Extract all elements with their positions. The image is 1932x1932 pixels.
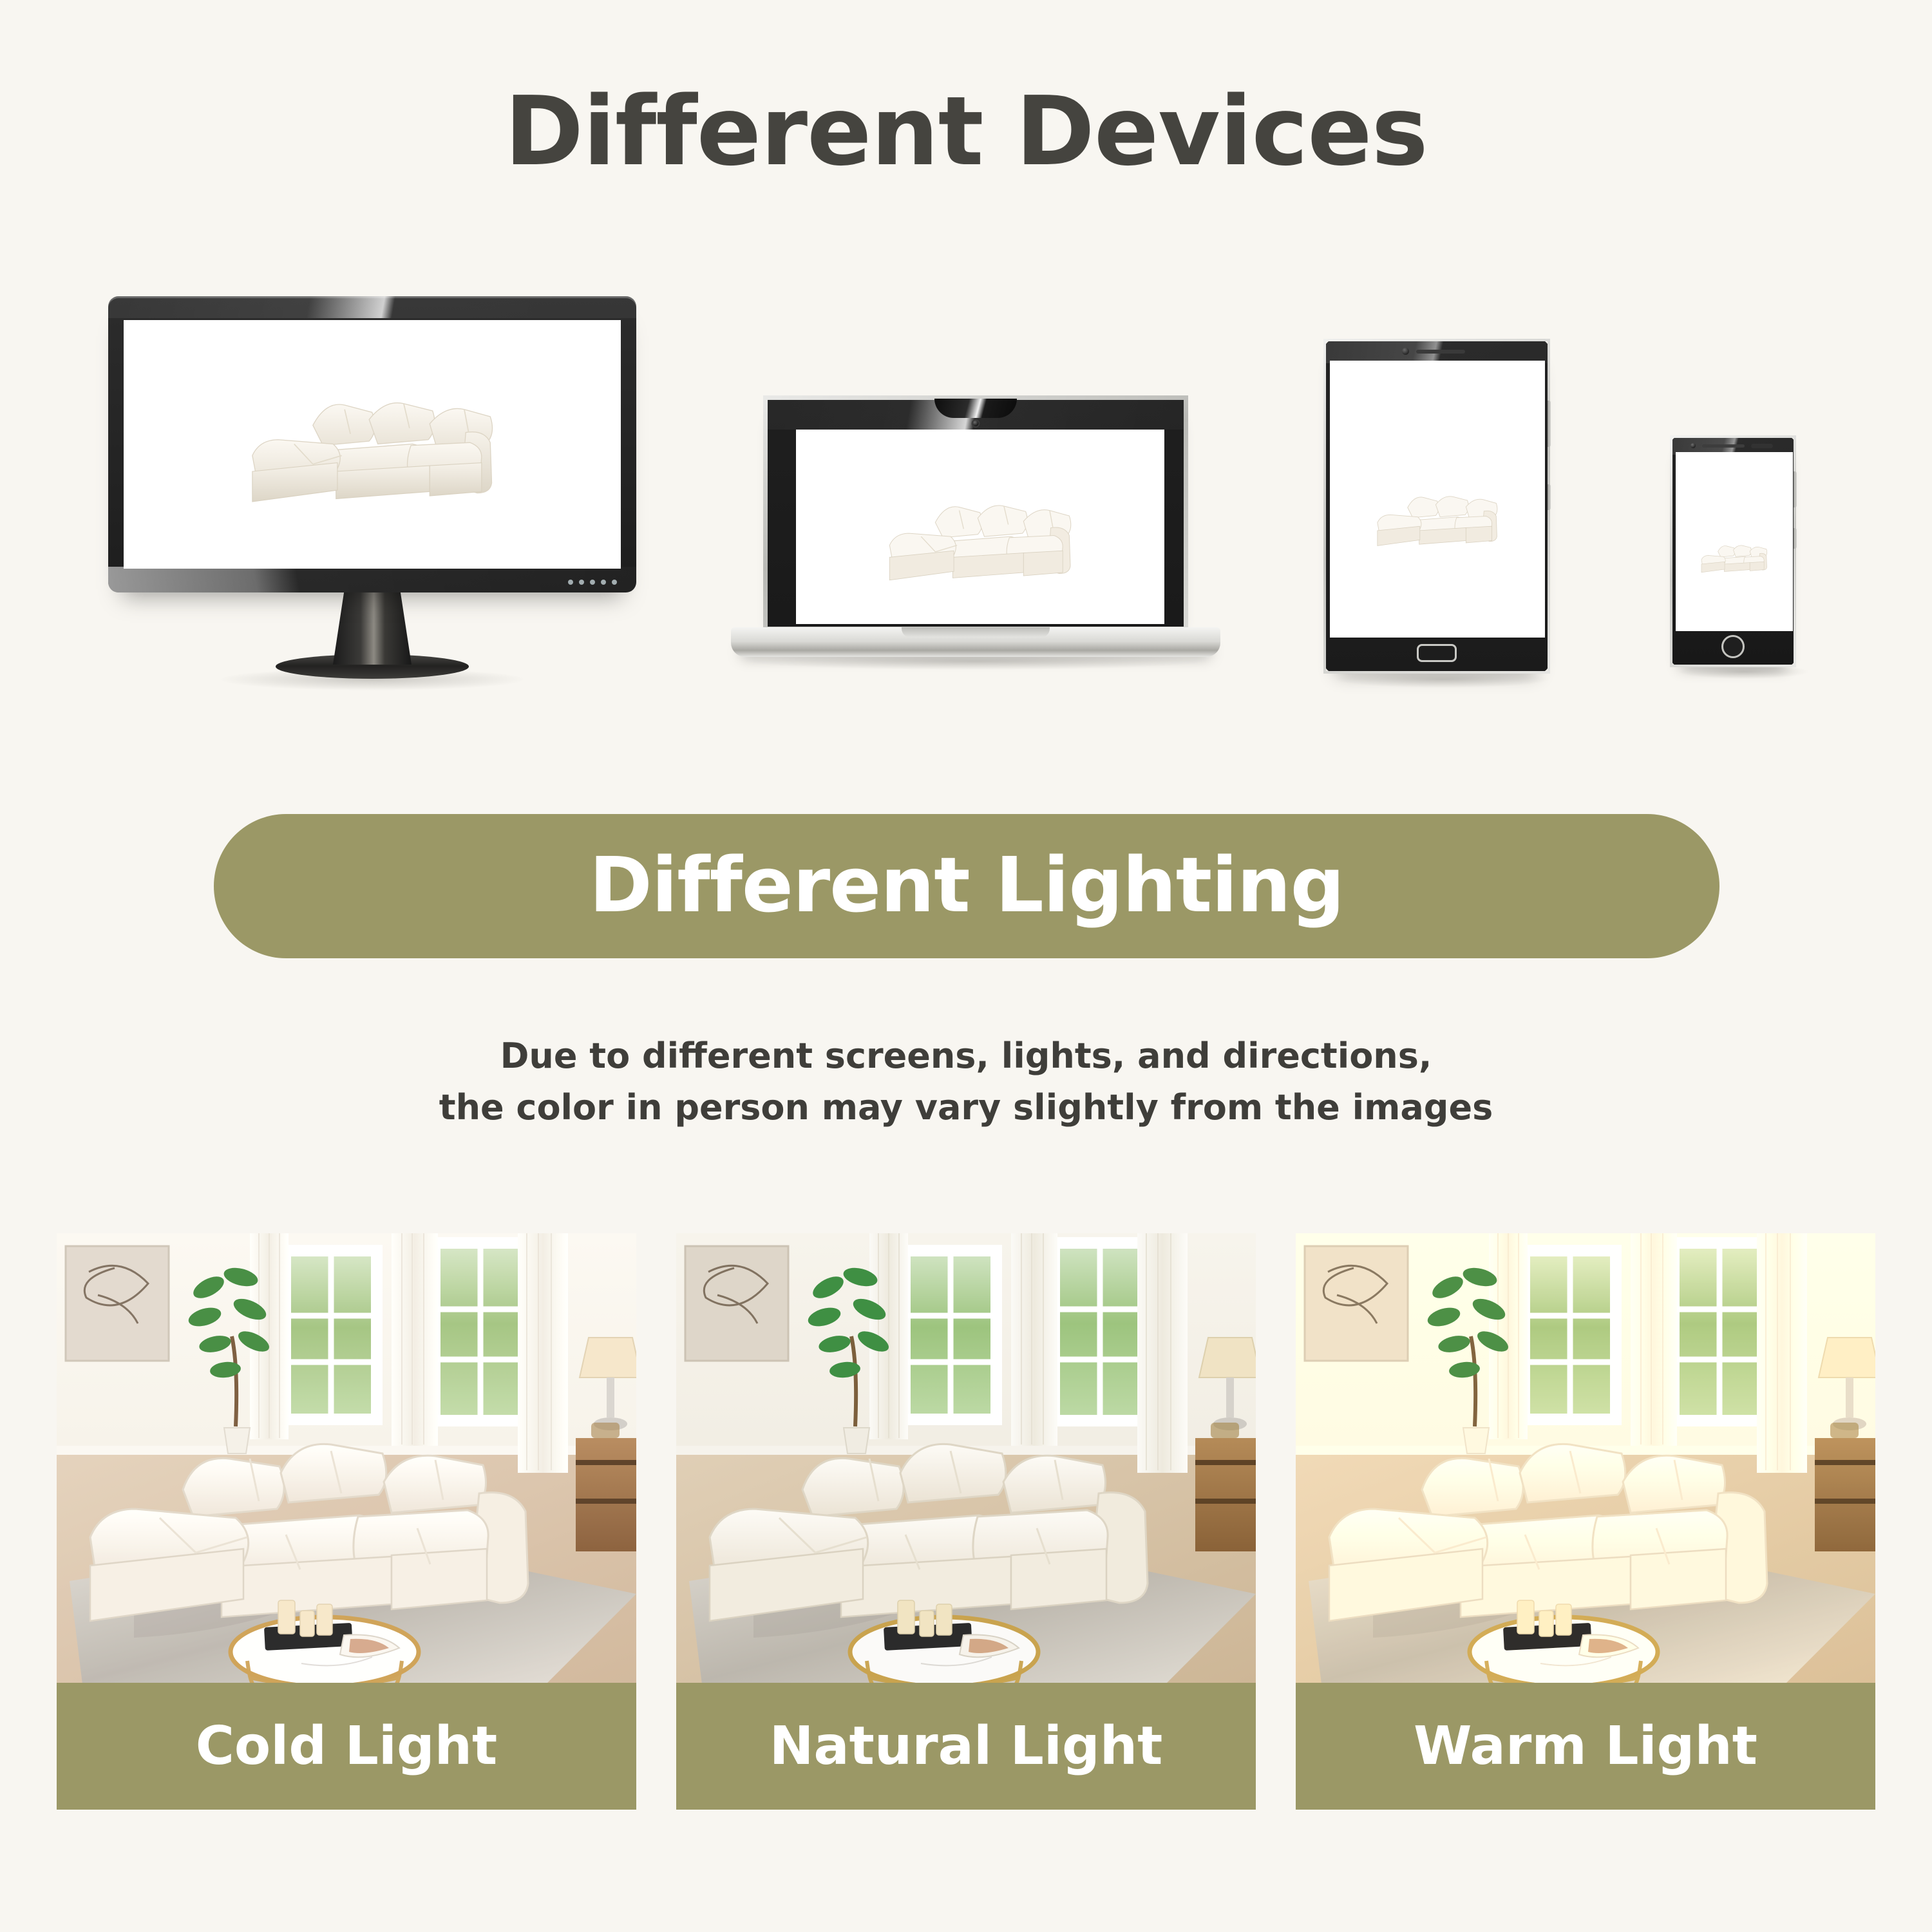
- lighting-panel-cold: Cold Light: [57, 1233, 636, 1810]
- lighting-banner: Different Lighting: [214, 814, 1719, 958]
- speaker-grille-icon: [1416, 350, 1465, 354]
- device-laptop: [731, 379, 1220, 662]
- tablet-screen: [1330, 361, 1545, 638]
- panel-label-text: Cold Light: [196, 1716, 498, 1777]
- tablet-power-button[interactable]: [1548, 484, 1551, 510]
- camera-icon: [1402, 348, 1409, 355]
- panel-label-natural: Natural Light: [676, 1683, 1256, 1810]
- phone-screen: [1676, 452, 1793, 631]
- monitor-bezel: [108, 296, 636, 592]
- sofa-illustration: [818, 484, 1142, 593]
- webcam-icon: [972, 419, 980, 428]
- home-button-icon[interactable]: [1721, 635, 1745, 658]
- device-tablet: [1323, 339, 1562, 699]
- home-button-icon[interactable]: [1417, 644, 1457, 662]
- sofa-illustration: [153, 375, 591, 519]
- laptop-screen: [796, 430, 1164, 624]
- disclaimer-line-2: the color in person may vary slightly fr…: [0, 1082, 1932, 1133]
- device-desktop-monitor: [108, 296, 636, 696]
- disclaimer-text: Due to different screens, lights, and di…: [0, 1030, 1932, 1133]
- panel-label-text: Natural Light: [770, 1716, 1163, 1777]
- laptop-base-notch: [902, 627, 1050, 638]
- lighting-panels: Cold Light: [0, 1233, 1932, 1810]
- panel-label-warm: Warm Light: [1296, 1683, 1875, 1810]
- laptop-camera-bump: [934, 399, 1017, 418]
- phone-volume-button[interactable]: [1794, 471, 1797, 507]
- sofa-illustration: [1680, 538, 1788, 577]
- lighting-panel-natural: Natural Light: [676, 1233, 1256, 1810]
- tablet-volume-button[interactable]: [1548, 401, 1551, 447]
- device-smartphone: [1670, 435, 1818, 693]
- phone-bezel: [1670, 435, 1796, 667]
- panel-label-cold: Cold Light: [57, 1683, 636, 1810]
- panel-label-text: Warm Light: [1414, 1716, 1757, 1777]
- devices-row: [0, 277, 1932, 741]
- lighting-panel-warm: Warm Light: [1296, 1233, 1875, 1810]
- room-photo-cold: [57, 1233, 636, 1684]
- room-photo-natural: [676, 1233, 1256, 1684]
- tablet-bezel: [1323, 339, 1550, 674]
- monitor-stand-neck: [333, 592, 412, 665]
- speaker-grille-icon: [1702, 444, 1745, 448]
- phone-power-button[interactable]: [1794, 528, 1797, 549]
- lighting-banner-label: Different Lighting: [589, 847, 1344, 923]
- earpiece-icon: [1751, 444, 1773, 448]
- disclaimer-line-1: Due to different screens, lights, and di…: [0, 1030, 1932, 1082]
- monitor-screen: [124, 320, 621, 569]
- page-title: Different Devices: [0, 76, 1932, 187]
- room-photo-warm: [1296, 1233, 1875, 1684]
- laptop-bezel: [763, 395, 1188, 631]
- sofa-illustration: [1338, 482, 1536, 554]
- camera-icon: [1690, 443, 1696, 448]
- led-indicator-icon: [568, 580, 617, 585]
